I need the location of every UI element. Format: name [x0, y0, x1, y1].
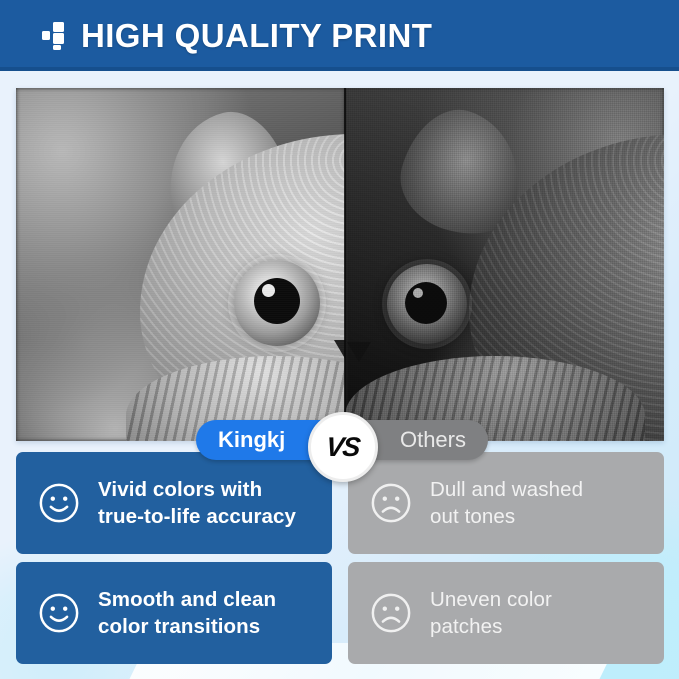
feature-card-text: Vivid colors with true-to-life accuracy	[98, 476, 296, 531]
feature-card-uneven-patches: Uneven color patches	[348, 562, 664, 664]
feature-card-text: Uneven color patches	[430, 586, 552, 641]
sad-face-icon	[370, 592, 412, 634]
feature-card-line2: color transitions	[98, 613, 276, 640]
feature-card-line2: patches	[430, 613, 552, 640]
brand-pill-kingkj-label: Kingkj	[218, 427, 285, 453]
feature-card-text: Dull and washed out tones	[430, 476, 583, 531]
smiley-face-icon	[38, 482, 80, 524]
feature-card-vivid-colors: Vivid colors with true-to-life accuracy	[16, 452, 332, 554]
squares-cluster-icon	[42, 22, 68, 50]
header-banner: HIGH QUALITY PRINT	[0, 0, 679, 71]
feature-card-line2: out tones	[430, 503, 583, 530]
smiley-face-icon	[38, 592, 80, 634]
vs-badge: VS	[308, 412, 378, 482]
sad-face-icon	[370, 482, 412, 524]
infographic-page: HIGH QUALITY PRINT	[0, 0, 679, 679]
feature-card-line1: Dull and washed	[430, 476, 583, 503]
comparison-split-line	[344, 88, 346, 441]
comparison-image-left-half	[16, 88, 345, 441]
page-title: HIGH QUALITY PRINT	[81, 17, 432, 55]
feature-card-smooth-transitions: Smooth and clean color transitions	[16, 562, 332, 664]
feature-card-dull-tones: Dull and washed out tones	[348, 452, 664, 554]
brand-pill-others-label: Others	[400, 427, 466, 453]
comparison-image-right-half	[345, 88, 664, 441]
feature-card-line1: Vivid colors with	[98, 476, 296, 503]
feature-card-text: Smooth and clean color transitions	[98, 586, 276, 641]
comparison-image	[16, 88, 664, 441]
feature-card-line1: Smooth and clean	[98, 586, 276, 613]
vs-badge-label: VS	[325, 432, 361, 463]
feature-card-line1: Uneven color	[430, 586, 552, 613]
feature-card-grid: Vivid colors with true-to-life accuracy …	[16, 452, 664, 664]
feature-card-line2: true-to-life accuracy	[98, 503, 296, 530]
